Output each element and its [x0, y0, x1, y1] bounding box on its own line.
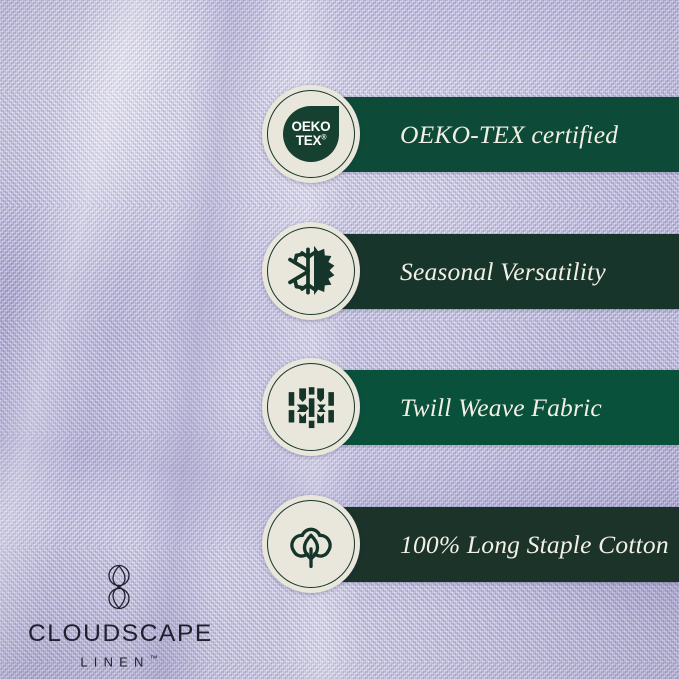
- feature-label: Seasonal Versatility: [400, 234, 606, 309]
- feature-label: OEKO-TEX certified: [400, 97, 618, 172]
- oeko-logo-line2: TEX: [296, 133, 322, 148]
- snowflake-sun-icon: [262, 222, 360, 320]
- oeko-logo-line1: OEKO: [292, 120, 331, 134]
- trademark-mark: ™: [150, 654, 158, 663]
- feature-label: Twill Weave Fabric: [400, 370, 602, 445]
- cotton-boll-icon: [262, 495, 360, 593]
- brand-subtitle: LINEN™: [80, 655, 157, 668]
- feature-row-oeko-tex: OEKO-TEX certified OEKO TEX®: [0, 85, 679, 183]
- product-feature-infographic: OEKO-TEX certified OEKO TEX® Seasonal Ve…: [0, 0, 679, 679]
- cotton-boll-svg: [280, 513, 342, 575]
- double-circle-infinity-logo-icon: [99, 561, 139, 613]
- feature-row-twill: Twill Weave Fabric: [0, 358, 679, 456]
- brand-sub-text: LINEN: [80, 654, 149, 669]
- feature-badge: [262, 222, 360, 320]
- feature-badge: [262, 358, 360, 456]
- feature-row-seasonal: Seasonal Versatility: [0, 222, 679, 320]
- woven-twill-icon: [262, 358, 360, 456]
- feature-badge: [262, 495, 360, 593]
- snowflake-sun-svg: [281, 241, 341, 301]
- brand-name: CLOUDSCAPE: [28, 622, 210, 647]
- feature-badge: OEKO TEX®: [262, 85, 360, 183]
- oeko-tex-logo-icon: OEKO TEX®: [262, 85, 360, 183]
- registered-mark: ®: [321, 135, 326, 142]
- feature-label: 100% Long Staple Cotton: [400, 507, 669, 582]
- brand-logo: CLOUDSCAPE LINEN™: [28, 561, 210, 671]
- woven-twill-svg: [280, 376, 342, 438]
